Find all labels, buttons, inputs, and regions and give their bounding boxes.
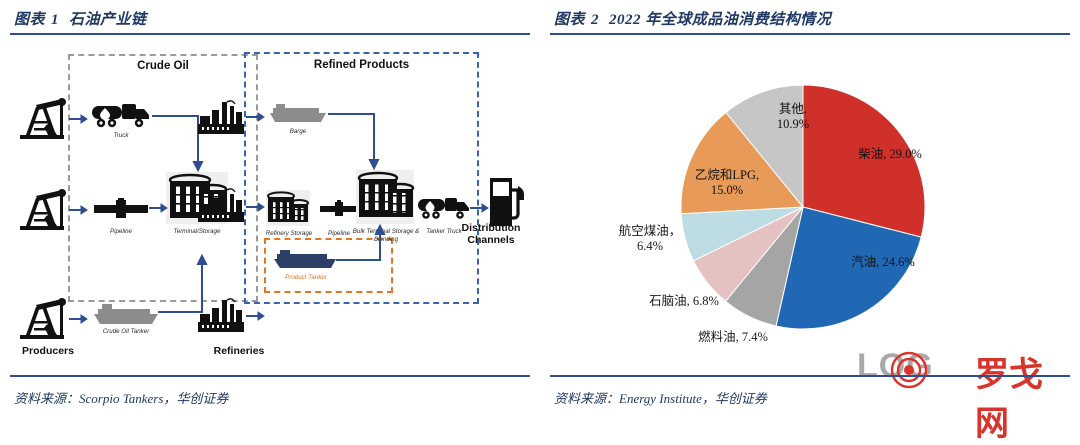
watermark-logo: LOG 罗戈网 bbox=[857, 345, 1072, 389]
figure-2-title-rule bbox=[550, 33, 1070, 35]
pipeline2-icon bbox=[320, 200, 358, 218]
figure-2-title-prefix: 图表 bbox=[554, 12, 585, 28]
arrow-product-tanker-up bbox=[336, 224, 390, 266]
terminal-storage-caption: Terminal/Storage bbox=[160, 228, 234, 236]
figure-2-title-number: 2 bbox=[591, 12, 599, 28]
pie-label-航空煤油-line1: 航空煤油， bbox=[619, 224, 682, 238]
pie-label-石脑油: 石脑油, 6.8% bbox=[624, 294, 744, 309]
refinery-storage-caption: Refinery Storage bbox=[256, 230, 322, 238]
arrow-pump3-to-crude-tanker bbox=[69, 314, 87, 324]
figure-1-title-rule bbox=[10, 33, 530, 35]
refinery-icon-2 bbox=[198, 188, 244, 222]
refinery-storage-icon bbox=[266, 190, 310, 226]
figure-1-panel: 图表1石油产业链 Crude Oil Refined Products bbox=[0, 0, 540, 419]
refinery-icon-3 bbox=[198, 298, 244, 332]
figure-2-panel: 图表22022 年全球成品油消费结构情况 柴油, 29.0% 汽油, 24.6%… bbox=[540, 0, 1080, 419]
fuel-pump-icon bbox=[490, 178, 526, 226]
arrow-refinery3-to-product-tanker bbox=[246, 311, 264, 321]
arrow-tanker-truck-to-distribution bbox=[470, 203, 488, 213]
pie-label-其他-line1: 其他, bbox=[779, 102, 807, 116]
figure-1-title-prefix: 图表 bbox=[14, 12, 45, 28]
tank-truck-icon bbox=[92, 100, 150, 130]
pie-label-燃料油: 燃料油, 7.4% bbox=[673, 330, 793, 345]
pie-label-航空煤油-line2: 6.4% bbox=[637, 239, 663, 253]
pie-label-乙烷和LPG-line1: 乙烷和LPG, bbox=[695, 168, 759, 182]
figure-1-title-text: 石油产业链 bbox=[69, 12, 147, 28]
report-page: 图表1石油产业链 Crude Oil Refined Products bbox=[0, 0, 1080, 419]
product-tanker-caption: Product Tanker bbox=[270, 274, 342, 282]
refined-products-box-title: Refined Products bbox=[244, 59, 479, 71]
pie-label-航空煤油: 航空煤油， 6.4% bbox=[595, 224, 705, 254]
arrow-pipeline-to-terminal bbox=[149, 203, 167, 213]
figure-2-footer-rule bbox=[550, 375, 1070, 377]
oil-pump-icon-3 bbox=[16, 297, 68, 341]
oil-supply-chain-diagram: Crude Oil Refined Products bbox=[8, 42, 532, 362]
group-label-refineries: Refineries bbox=[194, 345, 284, 357]
crude-oil-box-title: Crude Oil bbox=[68, 60, 258, 72]
figure-2-source: 资料来源：Energy Institute，华创证券 bbox=[554, 388, 767, 407]
pie-svg bbox=[540, 40, 1080, 360]
barge-icon bbox=[270, 104, 326, 124]
figure-1-source: 资料来源：Scorpio Tankers，华创证券 bbox=[14, 388, 228, 407]
oil-pump-icon-1 bbox=[16, 97, 68, 141]
pipeline-icon bbox=[94, 198, 148, 220]
product-tanker-icon bbox=[274, 250, 336, 270]
figure-1-title: 图表1石油产业链 bbox=[14, 8, 147, 29]
tanker-truck-caption: Tanker Truck bbox=[412, 228, 476, 236]
pie-label-汽油: 汽油, 24.6% bbox=[823, 255, 943, 270]
watermark-target-icon bbox=[890, 351, 928, 389]
arrow-refinery2-to-storage bbox=[246, 202, 264, 212]
watermark-cn-text: 罗戈网 bbox=[975, 347, 1072, 445]
pie-label-乙烷和LPG: 乙烷和LPG, 15.0% bbox=[662, 168, 792, 198]
oil-pump-icon-2 bbox=[16, 188, 68, 232]
figure-1-title-number: 1 bbox=[51, 12, 59, 28]
arrow-refinery1-to-barge bbox=[246, 112, 264, 122]
refined-oil-consumption-pie-chart: 柴油, 29.0% 汽油, 24.6% 燃料油, 7.4% 石脑油, 6.8% … bbox=[540, 40, 1080, 360]
bulk-terminal-icon bbox=[356, 170, 414, 224]
arrow-pump2-to-pipeline bbox=[69, 205, 87, 215]
pie-label-其他-line2: 10.9% bbox=[777, 117, 809, 131]
group-label-producers: Producers bbox=[8, 345, 88, 357]
pipeline-caption: Pipeline bbox=[94, 228, 148, 236]
pie-label-柴油: 柴油, 29.0% bbox=[830, 147, 950, 162]
crude-oil-tanker-caption: Crude Oil Tanker bbox=[88, 328, 164, 336]
barge-caption: Barge bbox=[270, 128, 326, 136]
arrow-barge-to-bulk-terminal bbox=[328, 108, 384, 170]
crude-oil-tanker-icon bbox=[94, 304, 158, 326]
pie-label-其他: 其他, 10.9% bbox=[748, 102, 838, 132]
refinery-icon-1 bbox=[198, 100, 244, 134]
figure-1-footer-rule bbox=[10, 375, 530, 377]
tank-truck-caption: Truck bbox=[92, 132, 150, 140]
figure-2-title: 图表22022 年全球成品油消费结构情况 bbox=[554, 8, 831, 29]
pie-label-乙烷和LPG-line2: 15.0% bbox=[711, 183, 743, 197]
arrow-pump1-to-truck bbox=[69, 114, 87, 124]
tanker-truck-icon bbox=[418, 194, 470, 222]
figure-2-title-text: 2022 年全球成品油消费结构情况 bbox=[609, 12, 831, 28]
